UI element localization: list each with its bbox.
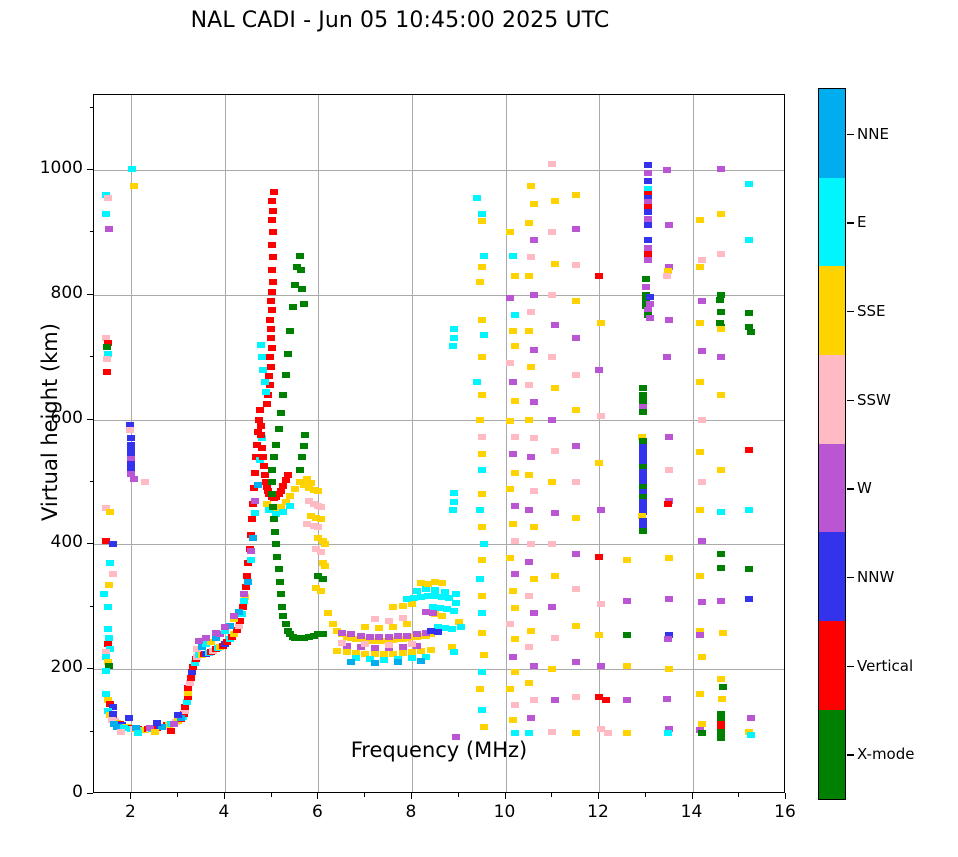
y-tick-minor: [90, 481, 94, 482]
colorbar-band-e[interactable]: [819, 178, 845, 267]
y-tick-mark: [87, 793, 93, 794]
x-tick-mark: [317, 793, 318, 799]
y-tick-mark: [87, 543, 93, 544]
colorbar-tick: [847, 222, 854, 223]
y-tick-mark: [87, 419, 93, 420]
colorbar-band-vertical[interactable]: [819, 621, 845, 710]
x-tick-label: 8: [381, 802, 441, 822]
y-tick-label: 200: [13, 657, 83, 677]
x-tick-label: 6: [287, 802, 347, 822]
x-tick-minor: [177, 793, 178, 797]
x-tick-label: 16: [755, 802, 815, 822]
x-tick-mark: [785, 793, 786, 799]
colorbar-label-e: E: [857, 213, 866, 231]
x-tick-minor: [551, 793, 552, 797]
x-tick-label: 10: [475, 802, 535, 822]
x-tick-label: 12: [568, 802, 628, 822]
colorbar-label-nnw: NNW: [857, 568, 894, 586]
colorbar-label-ssw: SSW: [857, 391, 891, 409]
x-tick-minor: [364, 793, 365, 797]
colorbar-label-nne: NNE: [857, 125, 889, 143]
y-tick-minor: [90, 107, 94, 108]
colorbar-band-nnw[interactable]: [819, 532, 845, 621]
x-tick-label: 4: [194, 802, 254, 822]
colorbar-tick: [847, 577, 854, 578]
x-tick-label: 2: [100, 802, 160, 822]
colorbar-band-sse[interactable]: [819, 266, 845, 355]
x-tick-label: 14: [662, 802, 722, 822]
y-tick-mark: [87, 294, 93, 295]
colorbar-band-x-mode[interactable]: [819, 710, 845, 799]
x-tick-mark: [505, 793, 506, 799]
colorbar-band-w[interactable]: [819, 444, 845, 533]
x-tick-minor: [271, 793, 272, 797]
colorbar-tick: [847, 754, 854, 755]
x-tick-minor: [645, 793, 646, 797]
y-tick-minor: [90, 231, 94, 232]
x-axis-title: Frequency (MHz): [93, 738, 785, 762]
y-axis-ticks: [93, 94, 785, 793]
x-tick-mark: [411, 793, 412, 799]
azimuth-colorbar[interactable]: [818, 88, 846, 800]
colorbar-tick: [847, 666, 854, 667]
colorbar-tick: [847, 134, 854, 135]
x-tick-mark: [598, 793, 599, 799]
y-tick-label: 0: [13, 782, 83, 802]
y-tick-mark: [87, 169, 93, 170]
x-tick-mark: [130, 793, 131, 799]
x-tick-minor: [738, 793, 739, 797]
colorbar-tick: [847, 488, 854, 489]
y-tick-mark: [87, 668, 93, 669]
x-tick-mark: [692, 793, 693, 799]
colorbar-label-sse: SSE: [857, 302, 886, 320]
colorbar-band-nne[interactable]: [819, 89, 845, 178]
y-tick-minor: [90, 356, 94, 357]
y-axis-title: Virtual height (km): [38, 232, 62, 612]
colorbar-label-vertical: Vertical: [857, 657, 913, 675]
colorbar-tick: [847, 311, 854, 312]
x-tick-mark: [224, 793, 225, 799]
colorbar-band-ssw[interactable]: [819, 355, 845, 444]
colorbar-label-x-mode: X-mode: [857, 745, 914, 763]
colorbar-tick: [847, 400, 854, 401]
x-tick-minor: [458, 793, 459, 797]
page-title: NAL CADI - Jun 05 10:45:00 2025 UTC: [0, 8, 800, 33]
y-tick-minor: [90, 606, 94, 607]
colorbar-label-w: W: [857, 479, 872, 497]
y-tick-minor: [90, 731, 94, 732]
y-tick-label: 1000: [13, 158, 83, 178]
